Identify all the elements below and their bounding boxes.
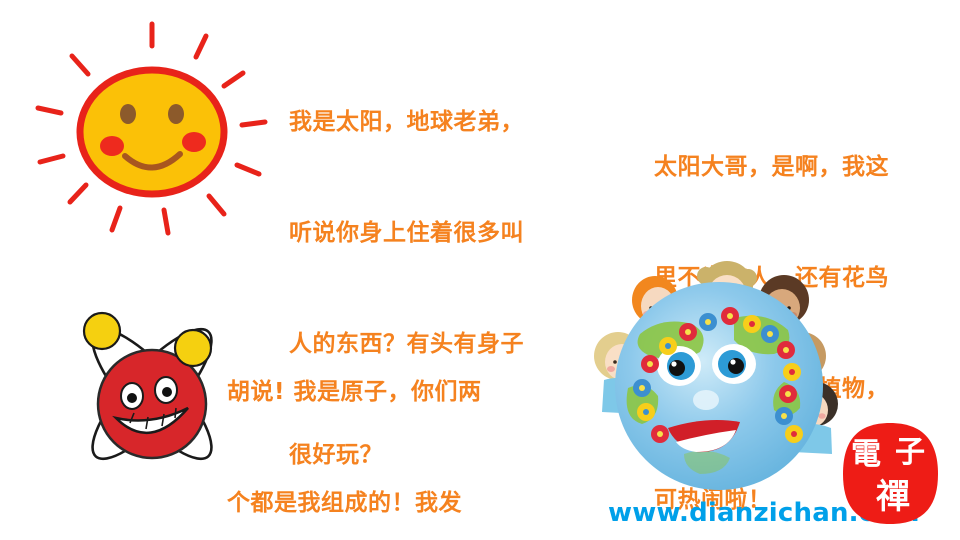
speech-earth-line-1: 太阳大哥，是啊，我这	[654, 149, 889, 186]
atom-pupil-right	[162, 387, 172, 397]
seal-stamp: 電 子 禪	[838, 420, 942, 528]
speech-sun-line-1: 我是太阳，地球老弟，	[289, 104, 524, 141]
sun-eye-left	[120, 104, 136, 124]
earth-nose	[693, 390, 719, 410]
earth-illustration	[588, 238, 850, 500]
earth-pupil-left	[669, 360, 685, 376]
speech-bubble-atom: 胡说! 我是原子，你们两 个都是我组成的！我发 誓，地球上除了圆球 球，其他啥都…	[227, 300, 482, 540]
sun-cheek-right	[182, 132, 206, 152]
seal-char-1: 電	[851, 437, 881, 472]
atom-illustration	[60, 296, 245, 486]
earth-pupil-right	[728, 358, 744, 374]
speech-atom-line-2: 个都是我组成的！我发	[227, 485, 482, 522]
sun-body	[80, 70, 224, 194]
sun-cheek-left	[100, 136, 124, 156]
electron-left	[84, 313, 120, 349]
poster-canvas: 我是太阳，地球老弟， 听说你身上住着很多叫 人的东西？有头有身子 很好玩？ 太阳…	[0, 0, 960, 540]
electron-right	[175, 330, 211, 366]
seal-char-2: 子	[895, 435, 925, 470]
speech-atom-line-1: 胡说! 我是原子，你们两	[227, 374, 482, 411]
speech-sun-line-2: 听说你身上住着很多叫	[289, 215, 524, 252]
atom-pupil-left	[127, 393, 137, 403]
sun-illustration	[28, 18, 276, 243]
sun-eye-right	[168, 104, 184, 124]
seal-char-3: 禪	[876, 477, 910, 517]
